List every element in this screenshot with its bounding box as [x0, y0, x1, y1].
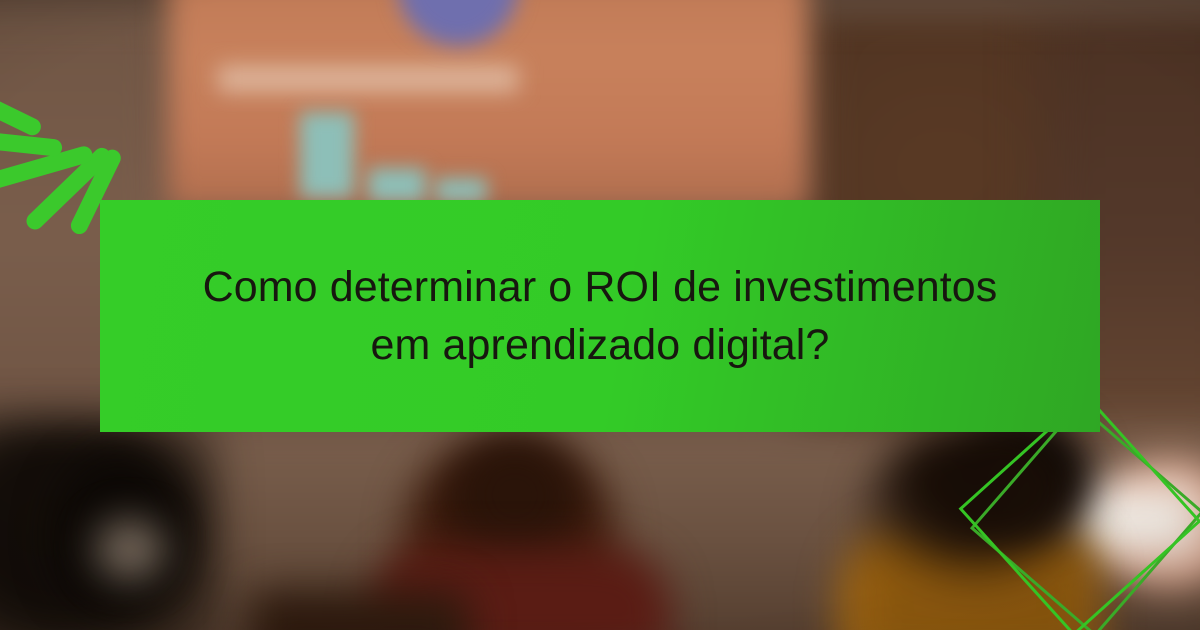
- title-banner: Como determinar o ROI de investimentos e…: [100, 200, 1100, 432]
- share-card-canvas: Como determinar o ROI de investimentos e…: [0, 0, 1200, 630]
- page-title: Como determinar o ROI de investimentos e…: [100, 258, 1100, 374]
